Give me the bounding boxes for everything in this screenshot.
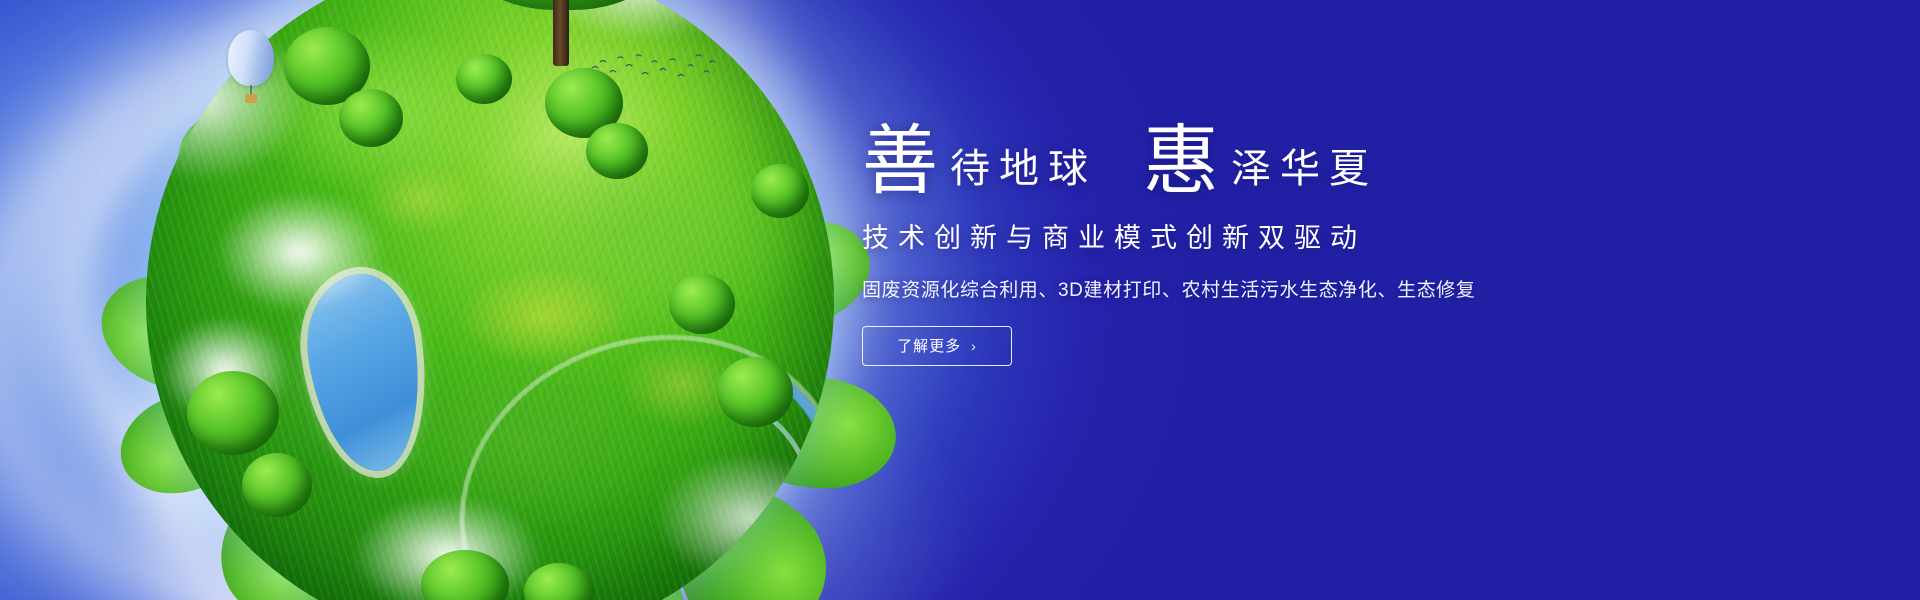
tree-cluster-icon [339, 89, 403, 147]
page-description: 固废资源化综合利用、3D建材打印、农村生活污水生态净化、生态修复 [862, 275, 1842, 302]
tree-cluster-icon [717, 357, 793, 427]
hero-banner: 善 待地球 惠 泽华夏 技术创新与商业模式创新双驱动 固废资源化综合利用、3D建… [0, 0, 1920, 600]
page-title: 善 待地球 惠 泽华夏 [862, 128, 1842, 198]
tree-cluster-icon [669, 274, 735, 334]
cloud-icon [215, 192, 385, 312]
chevron-right-icon: › [971, 339, 977, 353]
tree-cluster-icon [456, 54, 512, 104]
headline-char-1: 善 [862, 128, 938, 198]
large-tree-icon [449, 0, 679, 52]
headline-part-2: 泽华夏 [1231, 149, 1378, 189]
learn-more-button[interactable]: 了解更多 › [862, 326, 1012, 366]
balloon-basket [245, 94, 257, 103]
learn-more-label: 了解更多 [897, 335, 961, 356]
balloon-envelope [228, 30, 274, 86]
tree-cluster-icon [187, 371, 279, 455]
tree-cluster-icon [586, 123, 648, 179]
hero-content: 善 待地球 惠 泽华夏 技术创新与商业模式创新双驱动 固废资源化综合利用、3D建… [862, 128, 1842, 366]
cloud-icon [655, 453, 834, 583]
page-subtitle: 技术创新与商业模式创新双驱动 [862, 216, 1842, 255]
hot-air-balloon-icon [228, 30, 274, 108]
headline-char-2: 惠 [1143, 128, 1219, 198]
tree-trunk [553, 0, 569, 66]
headline-part-1: 待地球 [950, 149, 1097, 189]
bird-flock-icon [588, 48, 718, 94]
